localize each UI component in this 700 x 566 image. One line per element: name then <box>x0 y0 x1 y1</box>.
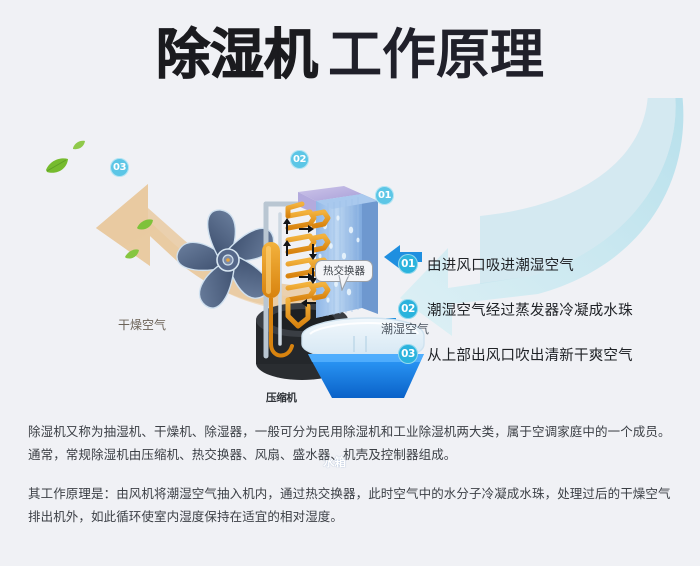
illustration-badge-03: 03 <box>110 158 129 177</box>
callout-pointer-icon <box>338 275 350 291</box>
label-compressor: 压缩机 <box>266 390 297 405</box>
step-text-02: 潮湿空气经过蒸发器冷凝成水珠 <box>427 299 633 320</box>
leaf-icon <box>72 140 86 151</box>
illustration-badge-02: 02 <box>290 150 309 169</box>
leaf-icon <box>124 248 140 261</box>
page-title-part2: 工作原理 <box>328 23 544 86</box>
body-paragraph-2: 其工作原理是：由风机将潮湿空气抽入机内，通过热交换器，此时空气中的水分子冷凝成水… <box>28 482 676 528</box>
step-badge-01: 01 <box>398 254 418 274</box>
step-badge-02: 02 <box>398 299 418 319</box>
illustration-badge-01: 01 <box>375 186 394 205</box>
step-text-03: 从上部出风口吹出清新干爽空气 <box>427 344 633 365</box>
body-copy: 除湿机又称为抽湿机、干燥机、除湿器，一般可分为民用除湿机和工业除湿机两大类，属于… <box>28 420 676 528</box>
body-paragraph-1: 除湿机又称为抽湿机、干燥机、除湿器，一般可分为民用除湿机和工业除湿机两大类，属于… <box>28 420 676 466</box>
list-item: 01 由进风口吸进潮湿空气 <box>398 253 688 275</box>
list-item: 03 从上部出风口吹出清新干爽空气 <box>398 343 688 365</box>
step-list: 01 由进风口吸进潮湿空气 02 潮湿空气经过蒸发器冷凝成水珠 03 从上部出风… <box>398 253 688 388</box>
step-badge-03: 03 <box>398 344 418 364</box>
leaf-icon <box>44 156 70 176</box>
step-text-01: 由进风口吸进潮湿空气 <box>427 254 574 275</box>
dehumidifier-infographic: 除湿机工作原理 <box>0 0 700 566</box>
page-title: 除湿机工作原理 <box>0 28 700 82</box>
label-dry-air: 干燥空气 <box>118 316 166 333</box>
list-item: 02 潮湿空气经过蒸发器冷凝成水珠 <box>398 298 688 320</box>
leaf-icon <box>136 218 154 232</box>
page-title-part1: 除湿机 <box>156 23 318 86</box>
